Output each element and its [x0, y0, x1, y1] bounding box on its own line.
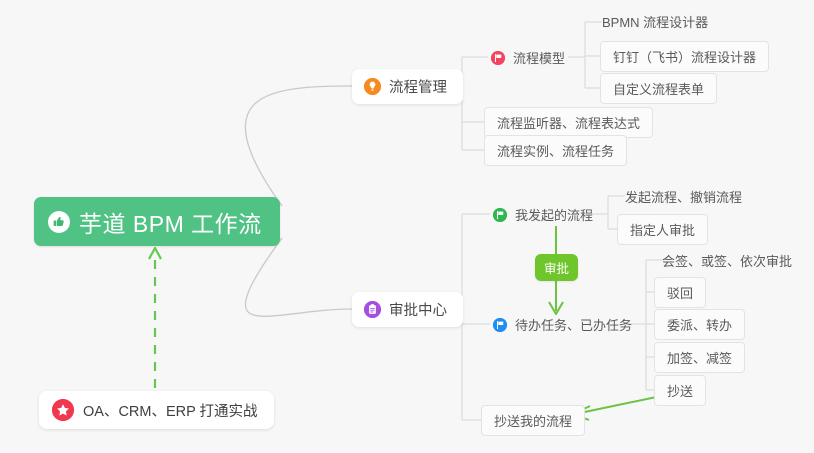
node-delegate-transfer[interactable]: 委派、转办	[654, 309, 745, 340]
branch-node-approval-center[interactable]: 审批中心	[352, 292, 463, 327]
node-label: 自定义流程表单	[613, 79, 704, 98]
node-todo-done-tasks[interactable]: 待办任务、已办任务	[493, 315, 632, 334]
annotation-pill-approval[interactable]: 审批	[535, 254, 578, 281]
node-cc[interactable]: 抄送	[654, 375, 706, 406]
lightbulb-icon	[364, 78, 381, 95]
node-label: 驳回	[667, 283, 693, 302]
standalone-node-label: OA、CRM、ERP 打通实战	[83, 400, 258, 421]
flag-icon	[493, 208, 507, 222]
branch-label: 流程管理	[389, 76, 447, 97]
node-label: 加签、减签	[667, 348, 732, 367]
node-assignee-approval[interactable]: 指定人审批	[617, 214, 708, 245]
node-process-instance[interactable]: 流程实例、流程任务	[484, 135, 627, 166]
node-custom-form[interactable]: 自定义流程表单	[600, 73, 717, 104]
standalone-node-integration[interactable]: OA、CRM、ERP 打通实战	[39, 391, 274, 429]
thumbs-up-icon	[48, 211, 70, 233]
node-countersign-approval[interactable]: 会签、或签、依次审批	[662, 251, 792, 270]
node-label: 抄送我的流程	[494, 411, 572, 430]
node-label: 钉钉（飞书）流程设计器	[613, 47, 756, 66]
node-process-model[interactable]: 流程模型	[491, 48, 565, 67]
node-add-remove-sign[interactable]: 加签、减签	[654, 342, 745, 373]
dashed-arrow-integration	[149, 248, 161, 388]
mindmap-canvas: 芋道 BPM 工作流 流程管理 流程模型 BPMN 流程设计器 钉钉（飞书）流程…	[0, 0, 814, 453]
node-label: 流程监听器、流程表达式	[497, 113, 640, 132]
branch-node-process-management[interactable]: 流程管理	[352, 69, 463, 104]
node-label: 我发起的流程	[515, 205, 593, 224]
node-start-cancel-process[interactable]: 发起流程、撤销流程	[625, 187, 742, 206]
annotation-label: 审批	[544, 258, 569, 277]
flag-icon	[493, 318, 507, 332]
link-root-to-process-management	[245, 86, 352, 206]
node-label: 待办任务、已办任务	[515, 315, 632, 334]
node-label: 发起流程、撤销流程	[625, 187, 742, 206]
node-cc-to-me[interactable]: 抄送我的流程	[481, 405, 585, 436]
highlight-arrow-cc	[573, 395, 666, 420]
node-reject[interactable]: 驳回	[654, 277, 706, 308]
node-label: 委派、转办	[667, 315, 732, 334]
star-icon	[52, 399, 74, 421]
link-root-to-approval-center	[245, 238, 352, 316]
clipboard-icon	[364, 301, 381, 318]
flag-icon	[491, 51, 505, 65]
node-my-initiated-processes[interactable]: 我发起的流程	[493, 205, 593, 224]
node-label: 流程模型	[513, 48, 565, 67]
node-label: 会签、或签、依次审批	[662, 251, 792, 270]
node-process-listener[interactable]: 流程监听器、流程表达式	[484, 107, 653, 138]
root-node[interactable]: 芋道 BPM 工作流	[34, 197, 280, 246]
node-label: 流程实例、流程任务	[497, 141, 614, 160]
branch-label: 审批中心	[389, 299, 447, 320]
node-label: BPMN 流程设计器	[602, 12, 708, 31]
root-label: 芋道 BPM 工作流	[79, 205, 262, 239]
node-dingtalk-designer[interactable]: 钉钉（飞书）流程设计器	[600, 41, 769, 72]
node-label: 指定人审批	[630, 220, 695, 239]
node-label: 抄送	[667, 381, 693, 400]
node-bpmn-designer[interactable]: BPMN 流程设计器	[602, 12, 708, 31]
